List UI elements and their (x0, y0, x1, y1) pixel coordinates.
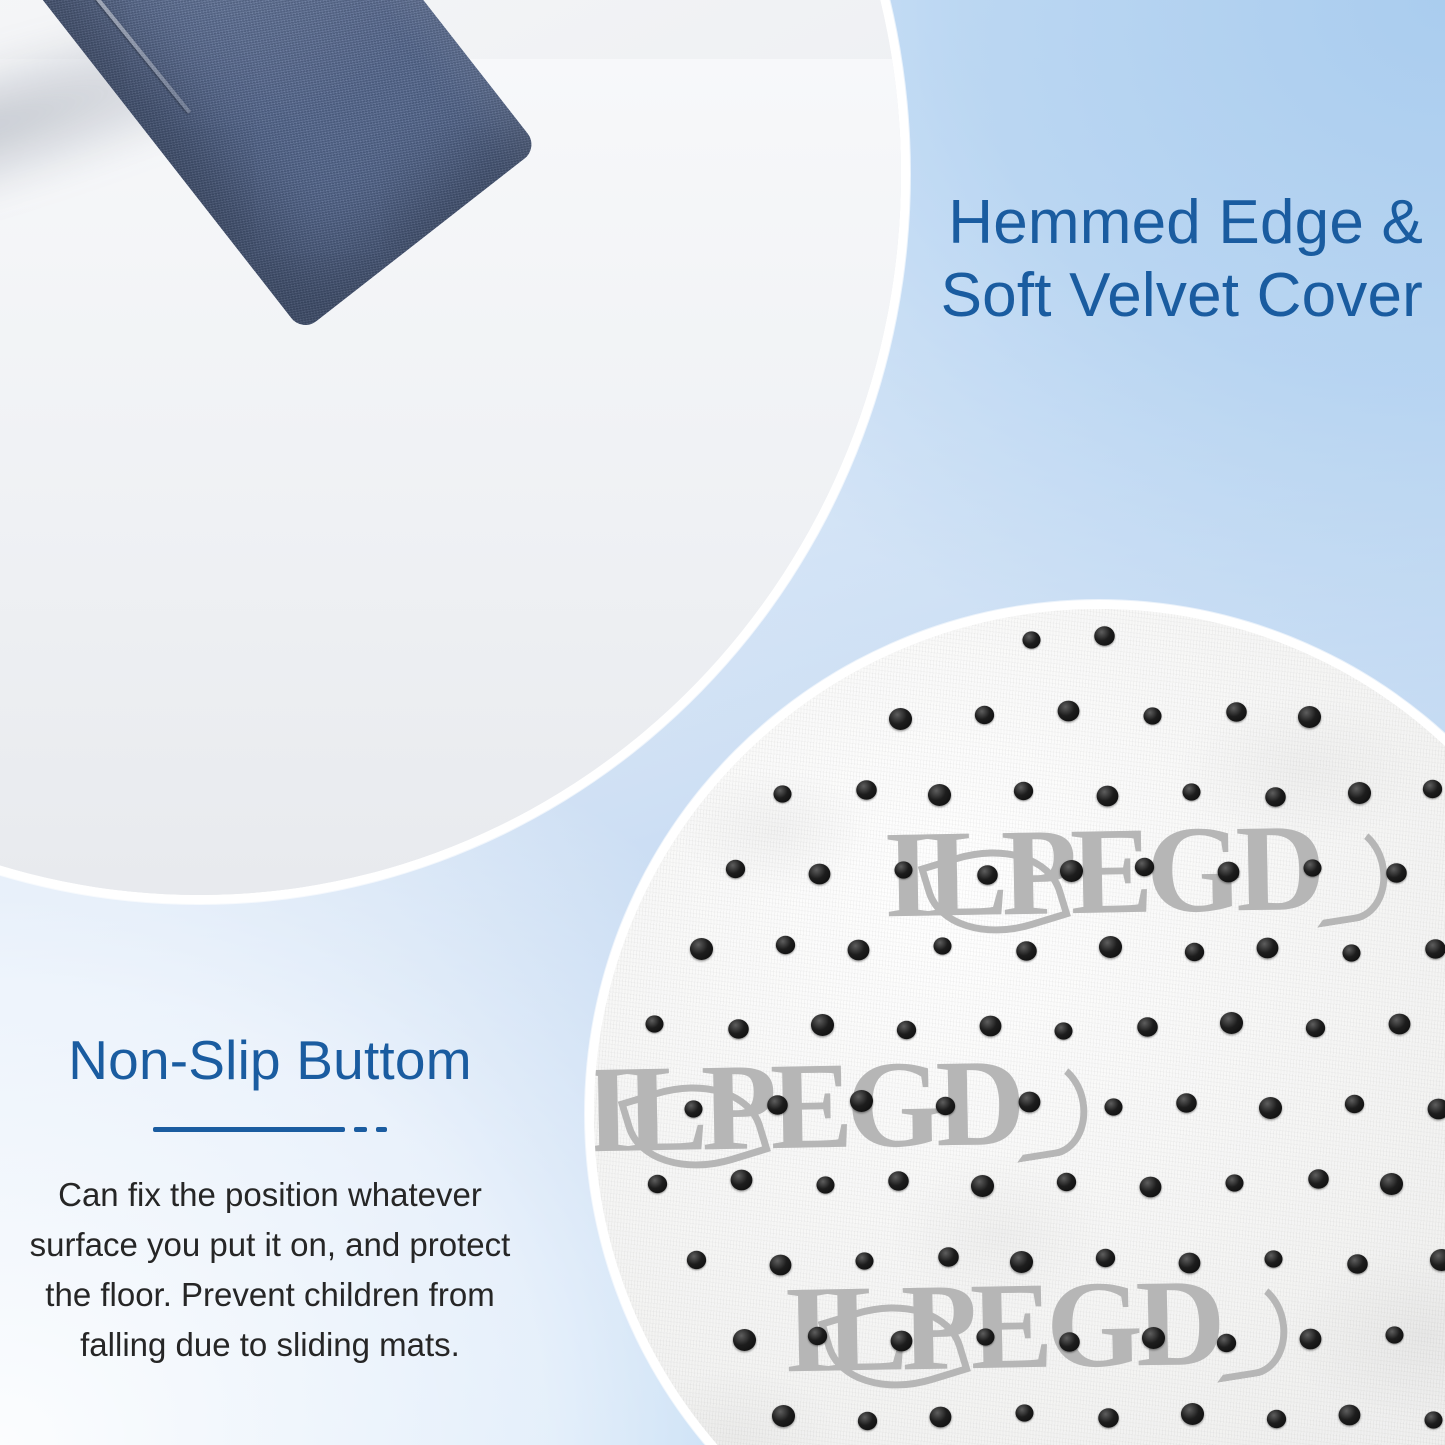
grip-dot (1345, 1095, 1364, 1113)
grip-dot (1430, 1249, 1445, 1271)
grip-dot (928, 784, 951, 806)
grip-dot (816, 1176, 834, 1193)
grip-dot (1060, 860, 1083, 882)
headline-line-1: Hemmed Edge & (663, 186, 1423, 259)
grip-dot (1342, 944, 1360, 961)
grip-dot (1176, 1093, 1197, 1113)
grip-dot (1300, 1329, 1322, 1350)
grip-dot (809, 864, 831, 885)
grip-dot (1014, 782, 1033, 800)
grip-dot (1099, 936, 1122, 958)
grip-dot (776, 936, 795, 954)
grip-dot (1143, 707, 1161, 724)
grip-dot (1306, 1019, 1325, 1037)
grip-dot (977, 865, 998, 885)
grip-dot (687, 1251, 706, 1269)
grip-dot (684, 1100, 702, 1117)
divider-dash-2 (376, 1127, 387, 1132)
infographic-canvas: ILPEGD ILPEGD ILPEGD Hemmed Edge & Soft … (0, 0, 1445, 1445)
grip-dot (1218, 862, 1240, 883)
grip-dot (1016, 941, 1037, 961)
grip-dot (1140, 1177, 1162, 1198)
grip-dot (1385, 1326, 1403, 1343)
grip-dot (1142, 1327, 1165, 1349)
grip-dot (891, 1331, 913, 1352)
grip-dot (855, 1252, 873, 1269)
grip-dot (1015, 1404, 1033, 1421)
grip-dot (1259, 1097, 1282, 1119)
grip-dot (856, 780, 877, 800)
grip-dot (731, 1170, 753, 1191)
grip-dot (1303, 859, 1321, 876)
grip-dot (889, 708, 912, 730)
feature-block: Non-Slip Buttom Can fix the position wha… (0, 1030, 540, 1370)
silicone-grip-dots (594, 609, 1445, 1445)
headline: Hemmed Edge & Soft Velvet Cover (663, 186, 1423, 332)
grip-dot (728, 1019, 749, 1039)
grip-dot (1185, 943, 1204, 961)
grip-dot (850, 1090, 873, 1112)
feature-body: Can fix the position whatever surface yo… (0, 1170, 540, 1371)
divider-bar (153, 1127, 345, 1132)
grip-dot (808, 1327, 827, 1345)
grip-dot (1097, 786, 1119, 807)
grip-dot (1428, 1099, 1445, 1120)
grip-dot (767, 1095, 788, 1115)
grip-dot (772, 1405, 795, 1427)
grip-dot (858, 1412, 877, 1430)
non-slip-bottom-photo-circle: ILPEGD ILPEGD ILPEGD (585, 600, 1445, 1445)
grip-dot (1265, 787, 1286, 807)
grip-dot (1010, 1251, 1033, 1273)
grip-dot (980, 1016, 1002, 1037)
grip-dot (1096, 1249, 1115, 1267)
grip-dot (897, 1021, 916, 1039)
grip-dot (975, 706, 994, 724)
grip-dot (1423, 780, 1442, 798)
divider-dash-1 (354, 1127, 367, 1132)
grip-dot (1137, 1017, 1158, 1037)
title-divider (0, 1127, 540, 1132)
grip-dot (1217, 1334, 1236, 1352)
feature-title: Non-Slip Buttom (0, 1030, 540, 1091)
grip-dot (1339, 1405, 1361, 1426)
grip-dot (1226, 702, 1247, 722)
grip-dot (933, 937, 951, 954)
grip-dot (648, 1175, 667, 1193)
grip-dot (1182, 783, 1200, 800)
grip-dot (690, 938, 713, 960)
non-slip-bottom-photo: ILPEGD ILPEGD ILPEGD (594, 609, 1445, 1445)
grip-dot (894, 861, 912, 878)
grip-dot (1380, 1173, 1403, 1195)
grip-dot (971, 1175, 994, 1197)
grip-dot (976, 1328, 994, 1345)
grip-dot (1022, 631, 1040, 648)
grip-dot (1104, 1098, 1122, 1115)
grip-dot (848, 940, 870, 961)
grip-dot (773, 785, 791, 802)
grip-dot (1181, 1403, 1204, 1425)
grip-dot (1347, 1254, 1368, 1274)
grip-dot (1094, 626, 1115, 646)
grip-dot (1348, 782, 1371, 804)
grip-dot (1059, 1332, 1080, 1352)
grip-dot (1098, 1408, 1119, 1428)
grip-dot (1267, 1410, 1286, 1428)
grip-dot (1135, 858, 1154, 876)
grip-dot (770, 1255, 792, 1276)
grip-dot (1386, 863, 1407, 883)
grip-dot (1019, 1092, 1041, 1113)
grip-dot (1308, 1169, 1329, 1189)
grip-dot (936, 1097, 955, 1115)
grip-dot (1298, 706, 1321, 728)
grip-dot (1057, 1173, 1076, 1191)
grip-dot (1179, 1253, 1201, 1274)
grip-dot (930, 1407, 952, 1428)
grip-dot (1058, 701, 1080, 722)
grip-dot (1264, 1250, 1282, 1267)
grip-dot (726, 860, 745, 878)
grip-dot (1054, 1022, 1072, 1039)
grip-dot (645, 1015, 663, 1032)
grip-dot (811, 1014, 834, 1036)
grip-dot (1225, 1174, 1243, 1191)
grip-dot (1220, 1012, 1243, 1034)
grip-dot (938, 1247, 959, 1267)
grip-dot (733, 1329, 756, 1351)
grip-dot (888, 1171, 909, 1191)
grip-dot (1424, 1411, 1442, 1428)
grip-dot (1389, 1014, 1411, 1035)
grip-dot (1425, 939, 1445, 959)
grip-dot (1257, 938, 1279, 959)
headline-line-2: Soft Velvet Cover (663, 259, 1423, 332)
